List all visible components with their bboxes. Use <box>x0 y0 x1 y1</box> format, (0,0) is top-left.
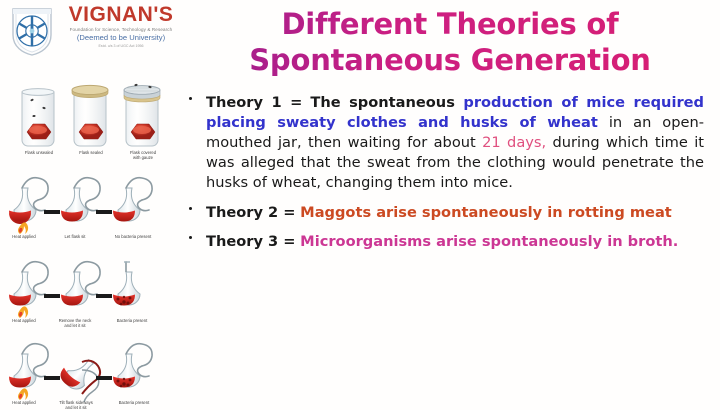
pasteur-neck-removed-diagram: Heat applied Remove the neck and let it … <box>0 254 180 334</box>
caption-flask-sealed: Flask sealed <box>62 150 120 155</box>
list-item-theory-3: Theory 3 = Microorganisms arise spontane… <box>186 232 704 252</box>
list-item-theory-2: Theory 2 = Maggots arise spontaneously i… <box>186 203 704 223</box>
theory-3-text: Microorganisms arise spontaneously in br… <box>300 233 678 250</box>
theories-list: Theory 1 = The spontaneous production of… <box>186 93 704 258</box>
theory-2-label: Theory 2 = <box>206 204 296 221</box>
shield-crest-icon <box>7 5 57 57</box>
caption-remove-neck: Remove the neck and let it sit <box>48 318 102 329</box>
caption-heat-applied: Heat applied <box>2 400 46 405</box>
caption-let-flask-sit: Let flask sit <box>52 234 98 239</box>
caption-flask-gauze: Flask covered with gauze <box>114 150 172 161</box>
caption-flask-unsealed: Flask unsealed <box>10 150 68 155</box>
title-line-1: Different Theories of <box>190 6 710 42</box>
caption-no-bacteria-present: No bacteria present <box>102 234 164 239</box>
theory-1-text-a: The spontaneous <box>310 94 463 111</box>
logo-tagline: Foundation for Science, Technology & Res… <box>60 26 182 31</box>
caption-tilt-flask: Tilt flask sideways and let it sit <box>48 400 104 410</box>
logo-fine-print: Estd. u/s 3 of UGC Act 1956 <box>61 44 181 48</box>
slide-canvas: VIGNAN'S Foundation for Science, Technol… <box>0 0 720 410</box>
theory-3-label: Theory 3 = <box>206 233 296 250</box>
pasteur-swan-neck-intact-diagram: Heat applied Let flask sit No bacteria p… <box>0 170 180 250</box>
theory-2-text: Maggots arise spontaneously in rotting m… <box>300 204 672 221</box>
title-line-2: Spontaneous Generation <box>190 42 710 78</box>
caption-bacteria-present: Bacteria present <box>104 318 160 323</box>
bullet-dot-icon <box>189 207 192 210</box>
vignans-logo: VIGNAN'S Foundation for Science, Technol… <box>4 3 182 61</box>
theory-1-highlight-days: 21 days, <box>482 134 546 151</box>
bullet-dot-icon <box>189 97 192 100</box>
page-title: Different Theories of Spontaneous Genera… <box>190 6 710 79</box>
experiment-figures: Flask unsealed Flask sealed Flask covere… <box>0 78 180 408</box>
caption-heat-applied: Heat applied <box>2 318 46 323</box>
caption-heat-applied: Heat applied <box>2 234 46 239</box>
redi-experiment-diagram: Flask unsealed Flask sealed Flask covere… <box>0 78 180 164</box>
list-item-theory-1: Theory 1 = The spontaneous production of… <box>186 93 704 193</box>
logo-text-block: VIGNAN'S Foundation for Science, Technol… <box>61 4 181 48</box>
bullet-dot-icon <box>189 236 192 239</box>
logo-status: (Deemed to be University) <box>61 33 181 42</box>
logo-name: VIGNAN'S <box>61 4 181 25</box>
theory-1-label: Theory 1 = <box>206 94 302 111</box>
caption-bacteria-present: Bacteria present <box>106 400 162 405</box>
pasteur-flask-tilted-diagram: Heat applied Tilt flask sideways and let… <box>0 336 180 410</box>
